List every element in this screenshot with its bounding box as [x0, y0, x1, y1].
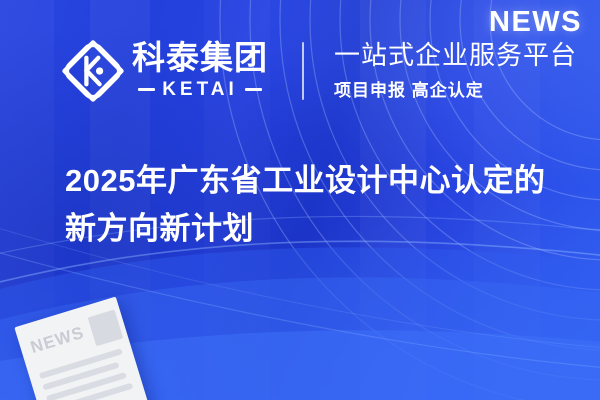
logo-name-cn: 科泰集团 — [132, 41, 268, 76]
logo-name-en: KETAI — [162, 79, 238, 101]
ketai-logo-icon — [60, 38, 126, 104]
logo-name-en-row: KETAI — [138, 79, 262, 101]
newspaper-photo-placeholder — [88, 309, 124, 346]
brand-header: 科泰集团 KETAI 一站式企业服务平台 项目申报 高企认定 — [60, 38, 577, 104]
headline-line-1: 2025年广东省工业设计中心认定的 — [65, 157, 575, 205]
header-divider — [302, 42, 304, 100]
logo-dash-right — [245, 88, 262, 91]
logo-wordmark: 科泰集团 KETAI — [132, 41, 268, 101]
headline-line-2: 新方向新计划 — [65, 205, 575, 253]
newspaper-title: NEWS — [29, 324, 87, 356]
tagline-block: 一站式企业服务平台 项目申报 高企认定 — [334, 41, 577, 100]
headline: 2025年广东省工业设计中心认定的 新方向新计划 — [65, 157, 575, 253]
news-banner: NEWS 科泰集团 KETAI 一站式企业服务平台 项目申报 高企认定 — [0, 0, 600, 400]
tagline-main: 一站式企业服务平台 — [334, 41, 577, 70]
logo-dash-left — [138, 88, 155, 91]
tagline-sub: 项目申报 高企认定 — [334, 76, 577, 101]
news-wordmark: NEWS — [489, 6, 582, 39]
